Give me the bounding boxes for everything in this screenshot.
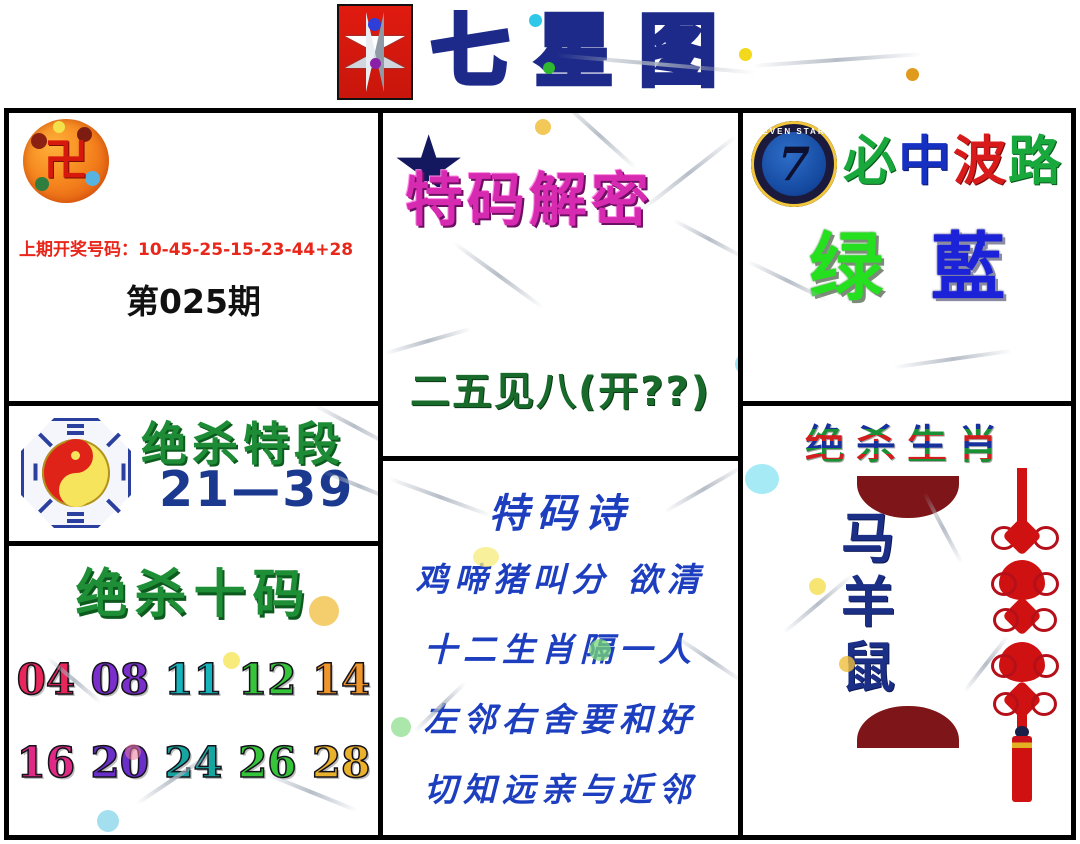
confetti-dot — [535, 119, 551, 135]
zodiac-animal: 马 — [841, 510, 895, 568]
poem-line: 切知远亲与近邻 — [383, 763, 738, 811]
content-grid: 卍 上期开奖号码：10-45-25-15-23-44+28 第025期 — [4, 108, 1076, 840]
zodiac-animal: 羊 — [841, 574, 895, 632]
seven-stars-logo-icon: 7 SEVEN STARS — [751, 121, 837, 207]
previous-draw-row: 上期开奖号码：10-45-25-15-23-44+28 — [19, 235, 369, 260]
chinese-knot-icon — [991, 468, 1053, 808]
streak-deco — [893, 349, 1012, 370]
masthead: 七星图 — [0, 0, 1080, 108]
decode-hint: 二五见八(开??) — [383, 359, 738, 417]
kill-number: 14 — [312, 659, 370, 701]
kill-number: 08 — [90, 659, 148, 701]
kill-ten-row-1: 04 08 11 12 14 — [9, 659, 378, 701]
panel-decode: ★ 特码解密 二五见八(开??) — [383, 113, 738, 456]
kill-range-value: 21—39 — [159, 461, 354, 518]
zodiac-title: 绝杀生肖 — [743, 412, 1071, 470]
confetti-dot — [97, 810, 119, 832]
wave-title-char: 路 — [1008, 119, 1063, 195]
decode-title: 特码解密 — [405, 153, 735, 237]
confetti-dot — [906, 68, 919, 81]
wave-title-char: 必 — [843, 119, 898, 195]
fortune-wan-icon: 卍 — [23, 119, 109, 203]
wave-color-green: 绿 — [809, 231, 883, 305]
streak-deco — [752, 52, 922, 68]
kill-ten-row-2: 16 20 24 26 28 — [9, 742, 378, 784]
issue-number: 第025期 — [9, 275, 378, 323]
kill-number: 16 — [17, 742, 75, 784]
wave-title-char: 波 — [953, 119, 1008, 195]
streak-deco — [384, 327, 472, 356]
wave-title: 必中波路 — [843, 119, 1063, 195]
poem-line: 左邻右舍要和好 — [383, 693, 738, 741]
panel-zodiac: 绝杀生肖 马 羊 鼠 — [743, 406, 1071, 835]
scroll-bottom-deco — [857, 706, 959, 748]
streak-deco — [452, 241, 543, 309]
kill-number: 04 — [17, 659, 75, 701]
kill-number: 28 — [312, 742, 370, 784]
kill-number: 24 — [164, 742, 222, 784]
panel-issue-info: 卍 上期开奖号码：10-45-25-15-23-44+28 第025期 — [9, 113, 378, 401]
star-badge-icon — [337, 4, 413, 100]
wave-color-list: 绿 藍 — [743, 231, 1071, 305]
panel-wave: 7 SEVEN STARS 必中波路 绿 藍 — [743, 113, 1071, 401]
seven-stars-text: SEVEN STARS — [751, 127, 837, 136]
bagua-yinyang-icon — [17, 414, 135, 532]
kill-number: 11 — [164, 659, 222, 701]
poem-line: 十二生肖隔一人 — [383, 623, 738, 671]
poster-root: 七星图 卍 上期开奖号码：10-45-25-15-23- — [0, 0, 1080, 844]
zodiac-animal: 鼠 — [841, 639, 895, 697]
previous-draw-numbers: 10-45-25-15-23-44+28 — [138, 240, 353, 260]
panel-poem: 特码诗 鸡啼猪叫分 欲清 十二生肖隔一人 左邻右舍要和好 切知远亲与近邻 — [383, 461, 738, 835]
previous-draw-label: 上期开奖号码： — [19, 240, 138, 260]
panel-kill-range: 绝杀特段 21—39 — [9, 406, 378, 541]
kill-number: 12 — [238, 659, 296, 701]
poem-line: 鸡啼猪叫分 欲清 — [383, 553, 738, 601]
panel-kill-ten: 绝杀十码 04 08 11 12 14 16 20 24 26 28 — [9, 546, 378, 835]
wave-title-char: 中 — [898, 119, 953, 195]
kill-number: 26 — [238, 742, 296, 784]
zodiac-list: 马 羊 鼠 — [743, 510, 993, 697]
poem-title: 特码诗 — [383, 481, 738, 539]
wave-color-blue: 藍 — [931, 231, 1005, 305]
kill-ten-title: 绝杀十码 — [9, 552, 378, 627]
page-title: 七星图 — [431, 13, 743, 91]
wan-glyph: 卍 — [44, 139, 88, 183]
kill-number: 20 — [90, 742, 148, 784]
